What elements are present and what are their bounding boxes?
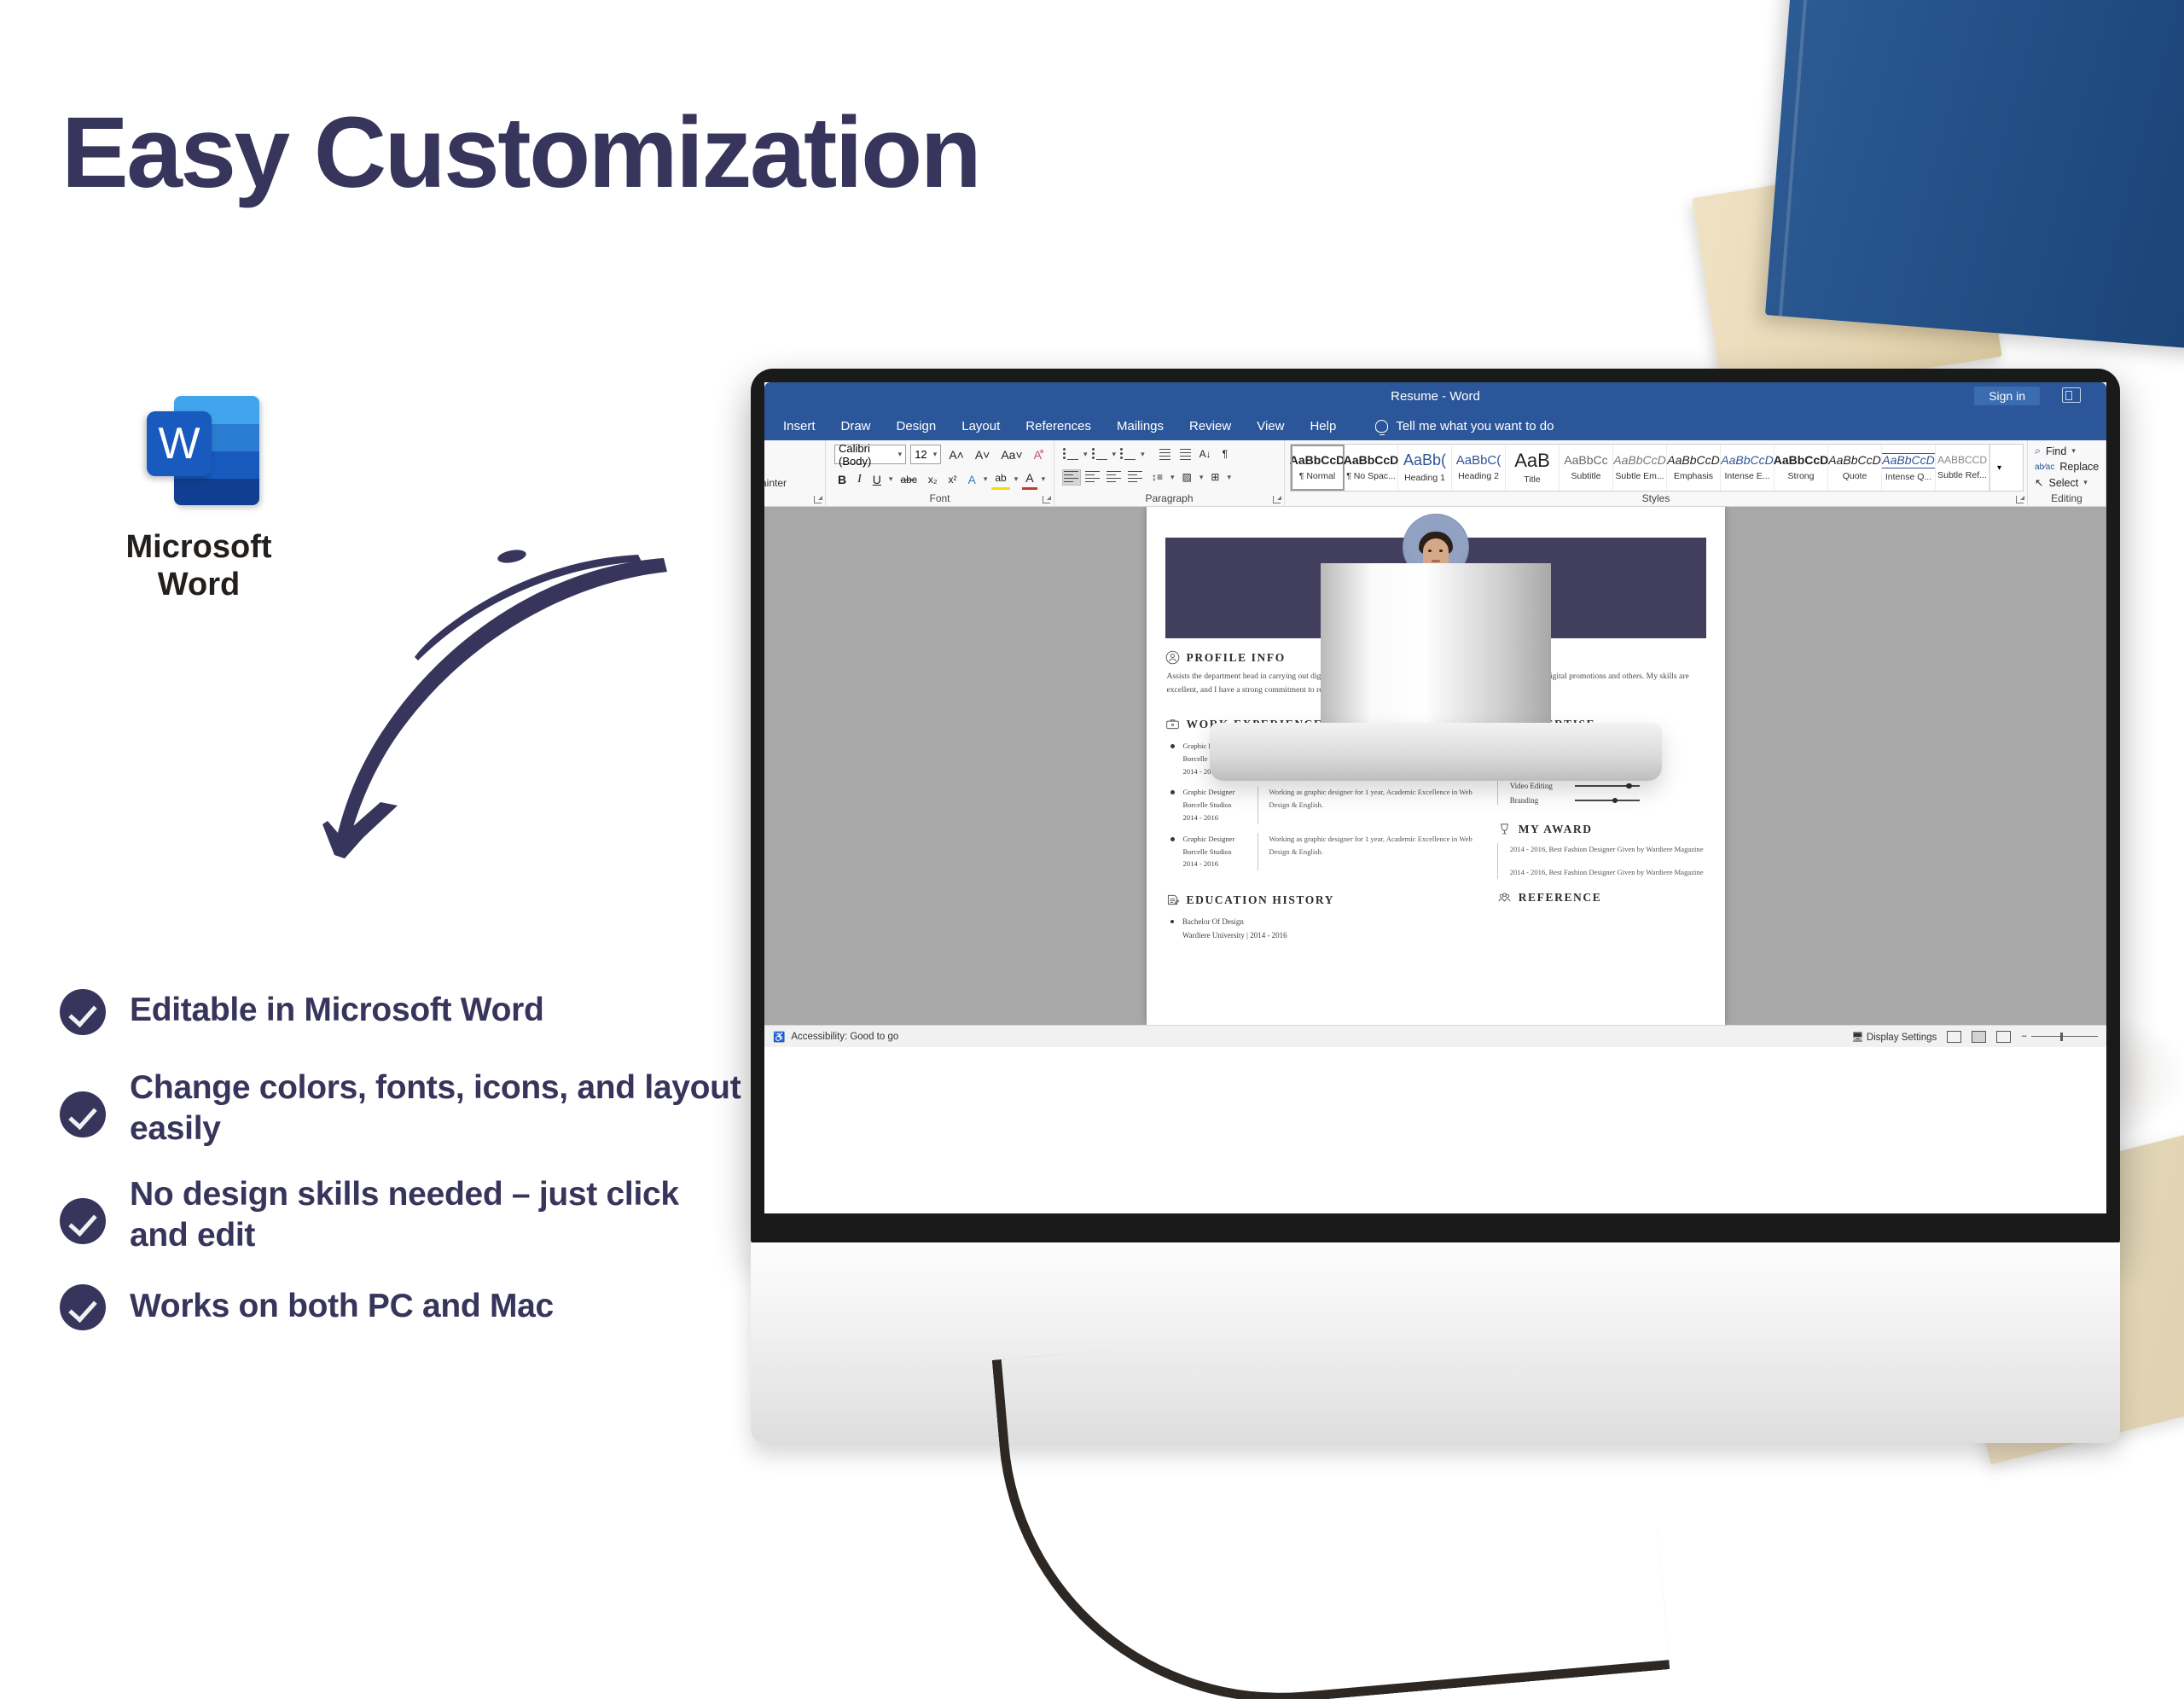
- replace-label: Replace: [2059, 461, 2099, 473]
- list-item: Editable in Microsoft Word: [60, 986, 742, 1035]
- chevron-down-icon[interactable]: ▾: [1042, 474, 1046, 484]
- change-case-icon[interactable]: Aa˅: [997, 445, 1025, 464]
- font-size-value: 12: [915, 448, 926, 461]
- cursor-icon: ↖: [2035, 476, 2043, 489]
- tab-references[interactable]: References: [1025, 419, 1091, 433]
- find-button[interactable]: ⌕ Find ▾: [2035, 445, 2097, 457]
- people-group-icon: [1497, 891, 1512, 905]
- tab-layout[interactable]: Layout: [961, 419, 1000, 433]
- feature-label: Editable in Microsoft Word: [130, 990, 544, 1031]
- style-label: Intense E...: [1724, 471, 1769, 481]
- job-title: Graphic Designer: [1183, 786, 1255, 799]
- word-application-window: Resume - Word Sign in Insert Draw Design…: [764, 382, 2106, 1213]
- borders-icon[interactable]: ⊞: [1207, 468, 1223, 486]
- ribbon-group-editing: ⌕ Find ▾ ab⁄ac Replace ↖ Select ▾ Editin…: [2028, 440, 2106, 506]
- chevron-down-icon[interactable]: ▾: [1014, 474, 1019, 484]
- print-layout-icon[interactable]: [1972, 1031, 1986, 1043]
- style-label: ¶ No Spac...: [1346, 471, 1396, 481]
- briefcase-icon: [1165, 717, 1180, 731]
- justify-icon[interactable]: [1127, 470, 1144, 485]
- style-preview: AaBb(: [1403, 452, 1446, 469]
- feature-label: No design skills needed – just click and…: [130, 1174, 742, 1255]
- strikethrough-icon[interactable]: abc: [897, 470, 920, 489]
- monitor-bezel: Resume - Word Sign in Insert Draw Design…: [751, 369, 2120, 1248]
- style-label: Emphasis: [1674, 471, 1713, 481]
- list-item: 2014 - 2016, Best Fashion Designer Given…: [1510, 866, 1706, 879]
- increase-indent-icon[interactable]: [1176, 447, 1192, 462]
- page-title: Easy Customization: [61, 102, 979, 203]
- style-preview: AaBbCcD: [1290, 454, 1345, 467]
- grow-font-icon[interactable]: A˄: [945, 445, 967, 464]
- underline-icon[interactable]: U: [869, 470, 885, 489]
- tell-me-label: Tell me what you want to do: [1396, 419, 1554, 433]
- feature-label: Works on both PC and Mac: [130, 1286, 554, 1327]
- word-letter-tile: W: [147, 411, 212, 476]
- section-title: PROFILE INFO: [1187, 651, 1286, 665]
- ribbon-group-paragraph: ▾ ▾ ▾ A↓ ¶ ↕≡: [1054, 440, 1285, 506]
- list-item: Change colors, fonts, icons, and layout …: [60, 1068, 742, 1149]
- list-item: Graphic Designer Borcelle Studios 2014 -…: [1165, 786, 1478, 823]
- find-label: Find: [2046, 445, 2066, 457]
- style-quote[interactable]: AaBbCcD Quote: [1828, 445, 1882, 491]
- ribbon-tab-bar: Insert Draw Design Layout References Mai…: [764, 411, 2106, 440]
- chevron-down-icon[interactable]: ▾: [984, 474, 988, 484]
- bullet-icon: [1170, 790, 1175, 794]
- align-left-icon[interactable]: [1063, 470, 1080, 485]
- chevron-down-icon[interactable]: ▾: [889, 474, 893, 484]
- font-dialog-launcher-icon[interactable]: [1043, 496, 1050, 503]
- ribbon-display-options-icon[interactable]: [2062, 387, 2081, 403]
- chevron-down-icon[interactable]: ▾: [2071, 446, 2076, 456]
- chevron-down-icon[interactable]: ▾: [1112, 450, 1117, 459]
- italic-icon[interactable]: I: [854, 470, 865, 489]
- check-icon: [60, 1284, 106, 1330]
- feature-list: Editable in Microsoft Word Change colors…: [60, 986, 742, 1363]
- paragraph-group-label: Paragraph: [1054, 492, 1284, 504]
- ribbon-group-font: Calibri (Body) ▾ 12 ▾ A˄ A˅ Aa˅ A⃰ B: [826, 440, 1054, 506]
- monitor-icon: 🖥: [1851, 1033, 1864, 1043]
- section-title: MY AWARD: [1519, 823, 1593, 836]
- section-title: REFERENCE: [1519, 891, 1602, 905]
- search-icon: ⌕: [2035, 445, 2041, 457]
- sort-icon[interactable]: A↓: [1196, 445, 1215, 463]
- style-preview: AaBbCcD: [1613, 454, 1665, 467]
- job-years: 2014 - 2016: [1183, 812, 1255, 824]
- list-item: 2014 - 2016, Best Fashion Designer Given…: [1510, 843, 1706, 856]
- background-book-blue: [1765, 0, 2184, 350]
- superscript-icon[interactable]: x²: [944, 470, 960, 489]
- text-effects-icon[interactable]: A: [964, 470, 979, 489]
- style-label: Heading 2: [1458, 471, 1499, 481]
- style-label: Strong: [1788, 471, 1815, 481]
- style-preview: AABBCCD: [1937, 455, 1987, 466]
- tab-review[interactable]: Review: [1189, 419, 1231, 433]
- font-color-icon[interactable]: A: [1022, 468, 1037, 490]
- style-preview: AaBbCcD: [1828, 454, 1880, 467]
- job-meta: Graphic Designer Borcelle Studios 2014 -…: [1183, 833, 1255, 870]
- font-group-label: Font: [826, 492, 1054, 504]
- display-settings-label: Display Settings: [1867, 1033, 1937, 1043]
- education-meta: Bachelor Of Design Wardiere University |…: [1182, 916, 1287, 942]
- chevron-down-icon[interactable]: ▾: [1141, 450, 1145, 459]
- styles-more-icon[interactable]: ▾: [1989, 445, 2008, 491]
- style-heading-2[interactable]: AaBbC( Heading 2: [1452, 445, 1506, 491]
- chevron-down-icon[interactable]: ▾: [1199, 473, 1204, 482]
- job-title: Graphic Designer: [1183, 833, 1255, 846]
- tab-draw[interactable]: Draw: [841, 419, 871, 433]
- ribbon-group-clipboard: ainter: [764, 440, 826, 506]
- style-normal[interactable]: AaBbCcD ¶ Normal: [1291, 445, 1345, 491]
- replace-icon: ab⁄ac: [2035, 463, 2054, 472]
- section-my-award: MY AWARD: [1497, 822, 1706, 836]
- style-label: Quote: [1843, 471, 1867, 481]
- lightbulb-icon: [1375, 420, 1388, 433]
- chevron-down-icon: ▾: [898, 450, 903, 459]
- section-education-history: EDUCATION HISTORY: [1165, 893, 1478, 907]
- tell-me-search[interactable]: Tell me what you want to do: [1375, 419, 1554, 433]
- styles-group-label: Styles: [1285, 492, 2027, 504]
- align-center-icon[interactable]: [1084, 470, 1101, 485]
- style-subtle-reference[interactable]: AABBCCD Subtle Ref...: [1936, 445, 1989, 491]
- bullet-icon: [1170, 920, 1174, 923]
- style-strong[interactable]: AaBbCcD Strong: [1774, 445, 1828, 491]
- highlight-icon[interactable]: ab: [991, 468, 1009, 490]
- style-preview: AaBbCcD: [1667, 454, 1719, 467]
- list-item: Graphic Designer Borcelle Studios 2014 -…: [1165, 833, 1478, 870]
- line-spacing-icon[interactable]: ↕≡: [1148, 468, 1166, 486]
- shrink-font-icon[interactable]: A˅: [972, 445, 994, 464]
- monitor-stand-neck: [1321, 563, 1551, 734]
- zoom-slider[interactable]: −: [2021, 1032, 2098, 1042]
- style-label: Heading 1: [1404, 473, 1445, 483]
- award-list: 2014 - 2016, Best Fashion Designer Given…: [1497, 843, 1706, 879]
- style-subtitle[interactable]: AaBbCc Subtitle: [1560, 445, 1613, 491]
- style-preview: AaB: [1514, 451, 1550, 471]
- style-no-spacing[interactable]: AaBbCcD ¶ No Spac...: [1345, 445, 1398, 491]
- bullet-icon: [1170, 837, 1175, 841]
- bold-icon[interactable]: B: [834, 470, 850, 489]
- list-item: Branding: [1510, 796, 1706, 805]
- web-layout-icon[interactable]: [1996, 1031, 2011, 1043]
- person-circle-icon: [1165, 650, 1180, 665]
- job-years: 2014 - 2016: [1183, 858, 1255, 870]
- feature-label: Change colors, fonts, icons, and layout …: [130, 1068, 742, 1149]
- monitor-stand-foot: [1210, 723, 1662, 781]
- chevron-down-icon[interactable]: ▾: [2083, 478, 2088, 487]
- style-preview: AaBbCc: [1564, 454, 1607, 467]
- style-preview: AaBbC(: [1456, 454, 1501, 468]
- style-emphasis[interactable]: AaBbCcD Emphasis: [1667, 445, 1721, 491]
- bullet-icon: [1170, 744, 1175, 748]
- check-icon: [60, 989, 106, 1035]
- style-label: Intense Q...: [1885, 472, 1931, 482]
- section-title: EDUCATION HISTORY: [1187, 893, 1335, 907]
- tab-help[interactable]: Help: [1310, 419, 1336, 433]
- decrease-indent-icon[interactable]: [1155, 447, 1171, 462]
- align-right-icon[interactable]: [1106, 470, 1123, 485]
- style-intense-quote[interactable]: AaBbCcD Intense Q...: [1882, 445, 1936, 491]
- styles-gallery: AaBbCcD ¶ Normal AaBbCcD ¶ No Spac... Aa…: [1290, 444, 2024, 492]
- tab-insert[interactable]: Insert: [783, 419, 816, 433]
- job-company: Borcelle Studios: [1183, 799, 1255, 812]
- style-label: ¶ Normal: [1299, 471, 1335, 481]
- read-mode-icon[interactable]: [1947, 1031, 1961, 1043]
- style-preview: AaBbCcD: [1344, 454, 1399, 467]
- style-label: Title: [1524, 474, 1540, 485]
- ribbon-group-styles: AaBbCcD ¶ Normal AaBbCcD ¶ No Spac... Aa…: [1285, 440, 2028, 506]
- check-icon: [60, 1091, 106, 1138]
- style-title[interactable]: AaB Title: [1506, 445, 1560, 491]
- bullets-icon[interactable]: [1063, 447, 1079, 462]
- multilevel-list-icon[interactable]: [1120, 447, 1136, 462]
- style-label: Subtitle: [1571, 471, 1600, 481]
- tab-design[interactable]: Design: [897, 419, 937, 433]
- monitor-cable: [992, 1304, 1670, 1699]
- trophy-icon: [1497, 822, 1512, 836]
- chevron-down-icon[interactable]: ▾: [1170, 473, 1175, 482]
- skill-label: Branding: [1510, 796, 1575, 805]
- ribbon: ainter Calibri (Body) ▾ 12 ▾ A˄: [764, 440, 2106, 507]
- chevron-down-icon[interactable]: ▾: [1227, 473, 1231, 482]
- style-subtle-emphasis[interactable]: AaBbCcD Subtle Em...: [1613, 445, 1667, 491]
- font-name-value: Calibri (Body): [839, 442, 898, 468]
- shading-icon[interactable]: ▨: [1179, 468, 1195, 486]
- style-label: Subtle Ref...: [1937, 470, 1987, 480]
- skill-bar: [1575, 785, 1640, 786]
- curved-arrow-icon: [256, 521, 700, 879]
- tab-view[interactable]: View: [1257, 419, 1284, 433]
- list-item: Bachelor Of Design Wardiere University |…: [1165, 916, 1478, 942]
- list-item: No design skills needed – just click and…: [60, 1174, 742, 1255]
- style-preview: AaBbCcD: [1882, 453, 1934, 468]
- monitor-mockup: Resume - Word Sign in Insert Draw Design…: [751, 369, 2120, 1443]
- chevron-down-icon[interactable]: ▾: [1083, 450, 1088, 459]
- zoom-out-icon[interactable]: −: [2021, 1032, 2027, 1042]
- clipboard-dialog-launcher-icon[interactable]: [814, 496, 822, 503]
- list-item: Video Editing: [1510, 782, 1706, 790]
- font-size-input[interactable]: 12 ▾: [910, 445, 941, 464]
- accessibility-icon: ♿: [773, 1031, 785, 1043]
- section-reference: REFERENCE: [1497, 891, 1706, 905]
- sign-in-button[interactable]: Sign in: [1974, 387, 2040, 405]
- check-icon: [60, 1198, 106, 1244]
- skill-label: Video Editing: [1510, 782, 1575, 790]
- skill-bar: [1575, 800, 1640, 800]
- display-settings-button[interactable]: 🖥 Display Settings: [1851, 1031, 1937, 1043]
- word-title-bar: Resume - Word Sign in: [764, 382, 2106, 411]
- microsoft-word-icon: W: [138, 391, 259, 512]
- format-painter-label[interactable]: ainter: [764, 477, 787, 489]
- font-name-input[interactable]: Calibri (Body) ▾: [834, 445, 906, 464]
- job-description: Working as graphic designer for 1 year, …: [1258, 786, 1478, 823]
- school: Wardiere University | 2014 - 2016: [1182, 929, 1287, 942]
- style-heading-1[interactable]: AaBb( Heading 1: [1398, 445, 1452, 491]
- style-label: Subtle Em...: [1615, 471, 1664, 481]
- select-button[interactable]: ↖ Select ▾: [2035, 476, 2097, 489]
- zoom-track[interactable]: [2031, 1036, 2098, 1037]
- list-item: Works on both PC and Mac: [60, 1281, 742, 1330]
- document-title: Resume - Word: [764, 389, 2106, 404]
- numbering-icon[interactable]: [1092, 447, 1108, 462]
- style-preview: AaBbCcD: [1774, 454, 1829, 467]
- styles-dialog-launcher-icon[interactable]: [2016, 496, 2024, 503]
- style-preview: AaBbCcD: [1721, 454, 1773, 467]
- paragraph-dialog-launcher-icon[interactable]: [1273, 496, 1281, 503]
- show-formatting-marks-icon[interactable]: ¶: [1219, 445, 1231, 463]
- job-company: Borcelle Studios: [1183, 846, 1255, 858]
- degree: Bachelor Of Design: [1182, 916, 1287, 928]
- clear-formatting-icon[interactable]: A⃰: [1031, 445, 1045, 464]
- tab-mailings[interactable]: Mailings: [1117, 419, 1164, 433]
- select-label: Select: [2048, 477, 2078, 489]
- subscript-icon[interactable]: x₂: [925, 470, 941, 489]
- document-pen-icon: [1165, 893, 1180, 907]
- job-meta: Graphic Designer Borcelle Studios 2014 -…: [1183, 786, 1255, 823]
- editing-group-label: Editing: [2028, 492, 2106, 504]
- accessibility-status[interactable]: Accessibility: Good to go: [791, 1032, 898, 1042]
- chevron-down-icon: ▾: [933, 450, 938, 459]
- job-description: Working as graphic designer for 1 year, …: [1258, 833, 1478, 870]
- replace-button[interactable]: ab⁄ac Replace: [2035, 461, 2097, 473]
- style-intense-emphasis[interactable]: AaBbCcD Intense E...: [1721, 445, 1774, 491]
- word-status-bar: ♿ Accessibility: Good to go 🖥 Display Se…: [764, 1025, 2106, 1047]
